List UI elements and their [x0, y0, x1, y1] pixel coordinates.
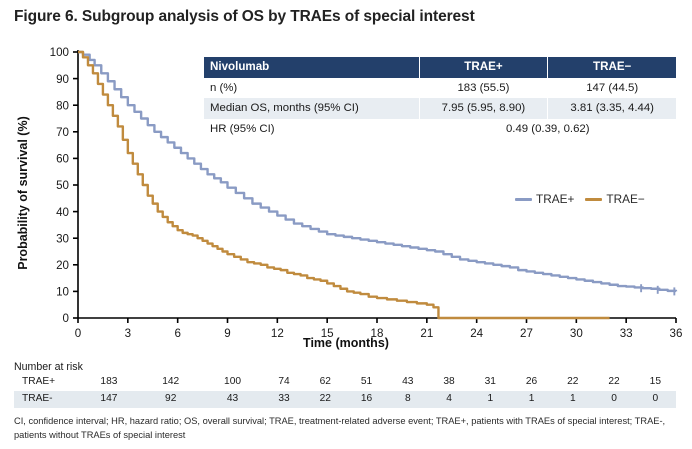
risk-table-row: TRAE-14792433322168411100 [14, 391, 676, 408]
risk-table-cell: 43 [202, 391, 264, 408]
risk-table-cell: 62 [305, 374, 346, 391]
data-table-row-label: HR (95% CI) [204, 119, 419, 140]
data-table-header-trae-neg: TRAE− [548, 57, 676, 78]
legend-label: TRAE+ [536, 192, 574, 206]
y-tick-label: 20 [56, 259, 69, 272]
y-tick-label: 90 [56, 73, 69, 86]
risk-table-cell: 4 [428, 391, 469, 408]
data-table-row: HR (95% CI)0.49 (0.39, 0.62) [204, 119, 676, 140]
data-table-cell-spanned: 0.49 (0.39, 0.62) [419, 119, 676, 140]
risk-table-cell: 142 [140, 374, 202, 391]
risk-table-cell: 31 [470, 374, 511, 391]
risk-table-cell: 15 [635, 374, 676, 391]
data-table-cell-trae-neg: 147 (44.5) [548, 78, 676, 99]
y-tick-label: 100 [50, 46, 69, 59]
y-tick-label: 0 [63, 312, 69, 325]
risk-table-body: TRAE+18314210074625143383126222215TRAE-1… [14, 374, 676, 408]
risk-table-title: Number at risk [14, 361, 83, 373]
legend-swatch-icon [585, 198, 602, 201]
figure-footnote: CI, confidence interval; HR, hazard rati… [14, 415, 680, 443]
risk-table-cell: 51 [346, 374, 387, 391]
data-table-header-row: Nivolumab TRAE+ TRAE− [204, 57, 676, 78]
y-tick-label: 60 [56, 153, 69, 166]
y-tick-label: 70 [56, 126, 69, 139]
risk-table-cell: 183 [78, 374, 140, 391]
legend-item: TRAE+ [515, 192, 574, 206]
data-table-body: n (%)183 (55.5)147 (44.5)Median OS, mont… [204, 78, 676, 140]
risk-table-cell: 16 [346, 391, 387, 408]
data-table-cell-trae-pos: 183 (55.5) [419, 78, 548, 99]
risk-table-cell: 43 [387, 374, 428, 391]
risk-table-row-label: TRAE+ [14, 374, 78, 391]
risk-table-cell: 74 [263, 374, 304, 391]
data-table-header-trae-pos: TRAE+ [419, 57, 548, 78]
data-table-row: Median OS, months (95% CI)7.95 (5.95, 8.… [204, 98, 676, 119]
risk-table-cell: 38 [428, 374, 469, 391]
risk-table-cell: 1 [511, 391, 552, 408]
risk-table-cell: 147 [78, 391, 140, 408]
data-table-header-label: Nivolumab [204, 57, 419, 78]
data-table-row: n (%)183 (55.5)147 (44.5) [204, 78, 676, 99]
risk-table-cell: 1 [470, 391, 511, 408]
x-axis-label: Time (months) [0, 336, 692, 350]
y-tick-label: 80 [56, 99, 69, 112]
number-at-risk-table: TRAE+18314210074625143383126222215TRAE-1… [14, 374, 676, 408]
legend-label: TRAE− [606, 192, 644, 206]
y-tick-label: 10 [56, 286, 69, 299]
data-table-row-label: n (%) [204, 78, 419, 99]
y-axis-label: Probability of survival (%) [16, 88, 30, 298]
risk-table-cell: 100 [202, 374, 264, 391]
data-table-row-label: Median OS, months (95% CI) [204, 98, 419, 119]
risk-table-cell: 1 [552, 391, 593, 408]
page-title: Figure 6. Subgroup analysis of OS by TRA… [14, 8, 475, 26]
data-table-cell-trae-neg: 3.81 (3.35, 4.44) [548, 98, 676, 119]
risk-table-cell: 22 [593, 374, 634, 391]
risk-table-row-label: TRAE- [14, 391, 78, 408]
legend-swatch-icon [515, 198, 532, 201]
summary-data-table: Nivolumab TRAE+ TRAE− n (%)183 (55.5)147… [204, 57, 676, 139]
data-table-cell-trae-pos: 7.95 (5.95, 8.90) [419, 98, 548, 119]
risk-table-cell: 0 [635, 391, 676, 408]
risk-table-row: TRAE+18314210074625143383126222215 [14, 374, 676, 391]
risk-table-cell: 22 [305, 391, 346, 408]
risk-table-cell: 8 [387, 391, 428, 408]
risk-table-cell: 92 [140, 391, 202, 408]
risk-table-cell: 33 [263, 391, 304, 408]
y-tick-label: 40 [56, 206, 69, 219]
y-tick-label: 50 [56, 179, 69, 192]
risk-table-cell: 26 [511, 374, 552, 391]
legend-item: TRAE− [585, 192, 644, 206]
y-tick-label: 30 [56, 232, 69, 245]
risk-table-cell: 22 [552, 374, 593, 391]
chart-legend: TRAE+TRAE− [515, 192, 645, 206]
risk-table-cell: 0 [593, 391, 634, 408]
